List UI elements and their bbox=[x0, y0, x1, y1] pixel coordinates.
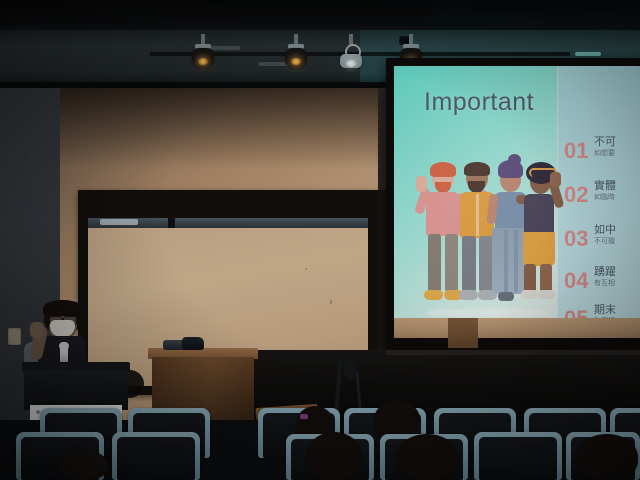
chair-back bbox=[479, 437, 557, 480]
chair[interactable] bbox=[474, 432, 562, 480]
slide-item-number: 01 bbox=[564, 138, 588, 164]
slide-item-heading: 實體 bbox=[594, 180, 640, 193]
figure-2-shoe-left bbox=[459, 290, 478, 300]
figure-3-skirt-fold bbox=[504, 230, 508, 292]
slide-bottom-band bbox=[394, 318, 640, 338]
slide-item-number: 04 bbox=[564, 268, 588, 294]
figure-1-leg-left bbox=[428, 234, 441, 292]
slide-item-text: 如中 不可擅 bbox=[594, 224, 640, 246]
hair-clip bbox=[300, 414, 308, 419]
slide-item-heading: 期末 bbox=[594, 304, 640, 317]
figure-4-leg-right bbox=[540, 264, 552, 292]
illustration-ground-shadow bbox=[426, 308, 552, 318]
beam-highlight-3 bbox=[575, 52, 601, 56]
slide-item-sub: 如想要 bbox=[594, 149, 640, 158]
spotlight-bulb bbox=[291, 58, 301, 65]
slide-item-text: 不可 如想要 bbox=[594, 136, 640, 158]
slide-item-number: 03 bbox=[564, 226, 588, 252]
figure-3-shoe bbox=[498, 292, 514, 301]
whiteboard-mark bbox=[305, 268, 307, 270]
slide-item-heading: 不可 bbox=[594, 136, 640, 149]
figure-2-jacket-zip bbox=[476, 194, 479, 236]
slide-item-sub: 不可擅 bbox=[594, 237, 640, 246]
spotlight-bulb bbox=[346, 60, 356, 67]
presenter-fringe bbox=[43, 300, 83, 316]
chair[interactable] bbox=[112, 432, 200, 480]
figure-1-hand bbox=[416, 176, 427, 192]
figure-2-hair bbox=[464, 162, 490, 176]
figure-1-leg-right bbox=[445, 234, 458, 292]
slide-item-03: 03 如中 不可擅 bbox=[564, 226, 640, 266]
projection-screen: Important bbox=[394, 66, 640, 338]
whiteboard-mark bbox=[330, 300, 332, 304]
whiteboard-rail-highlight bbox=[100, 219, 138, 225]
audience-head bbox=[576, 434, 638, 480]
figure-4-top bbox=[524, 194, 554, 234]
presentation-slide: Important bbox=[394, 66, 640, 338]
wooden-cabinet bbox=[448, 318, 478, 348]
slide-item-01: 01 不可 如想要 bbox=[564, 138, 640, 178]
whiteboard-rail-clip bbox=[168, 218, 175, 228]
slide-item-sub: 如臨時 bbox=[594, 193, 640, 202]
slide-item-number: 02 bbox=[564, 182, 588, 208]
audience-head bbox=[60, 450, 108, 480]
slide-item-02: 02 實體 如臨時 bbox=[564, 182, 640, 222]
figure-3-hair-bun bbox=[508, 154, 521, 166]
cable-coil bbox=[344, 358, 356, 380]
chair-back bbox=[117, 437, 195, 480]
figure-4-hand bbox=[550, 172, 561, 187]
slide-item-heading: 如中 bbox=[594, 224, 640, 237]
slide-item-sub: 有互相 bbox=[594, 279, 640, 288]
figure-2-leg-left bbox=[462, 236, 476, 292]
audience-head bbox=[306, 432, 362, 480]
figure-4-shoe-right bbox=[538, 290, 555, 299]
slide-title: Important bbox=[424, 88, 534, 117]
figure-3-skirt-fold bbox=[514, 230, 518, 292]
item-on-lectern bbox=[182, 337, 204, 350]
spotlight-bulb bbox=[198, 58, 208, 65]
figure-1-hair bbox=[430, 162, 456, 177]
slide-item-04: 04 踴躍 有互相 bbox=[564, 268, 640, 308]
figure-4-skirt bbox=[523, 232, 555, 266]
presenter-hand bbox=[30, 322, 44, 338]
slide-item-text: 踴躍 有互相 bbox=[594, 266, 640, 288]
seated-audience bbox=[0, 392, 640, 480]
figure-1-shirt bbox=[426, 192, 460, 236]
figure-2-leg-right bbox=[479, 236, 493, 292]
slide-illustration bbox=[416, 152, 556, 320]
figure-4-shoe-left bbox=[521, 290, 538, 299]
slide-item-heading: 踴躍 bbox=[594, 266, 640, 279]
lecture-hall-photo: Important bbox=[0, 0, 640, 480]
stage-edge-highlight bbox=[386, 350, 640, 355]
audience-head bbox=[396, 434, 458, 480]
figure-4-leg-left bbox=[524, 264, 536, 292]
microphone-head bbox=[59, 342, 69, 350]
figure-1-shoe-left bbox=[424, 290, 443, 300]
slide-item-text: 實體 如臨時 bbox=[594, 180, 640, 202]
